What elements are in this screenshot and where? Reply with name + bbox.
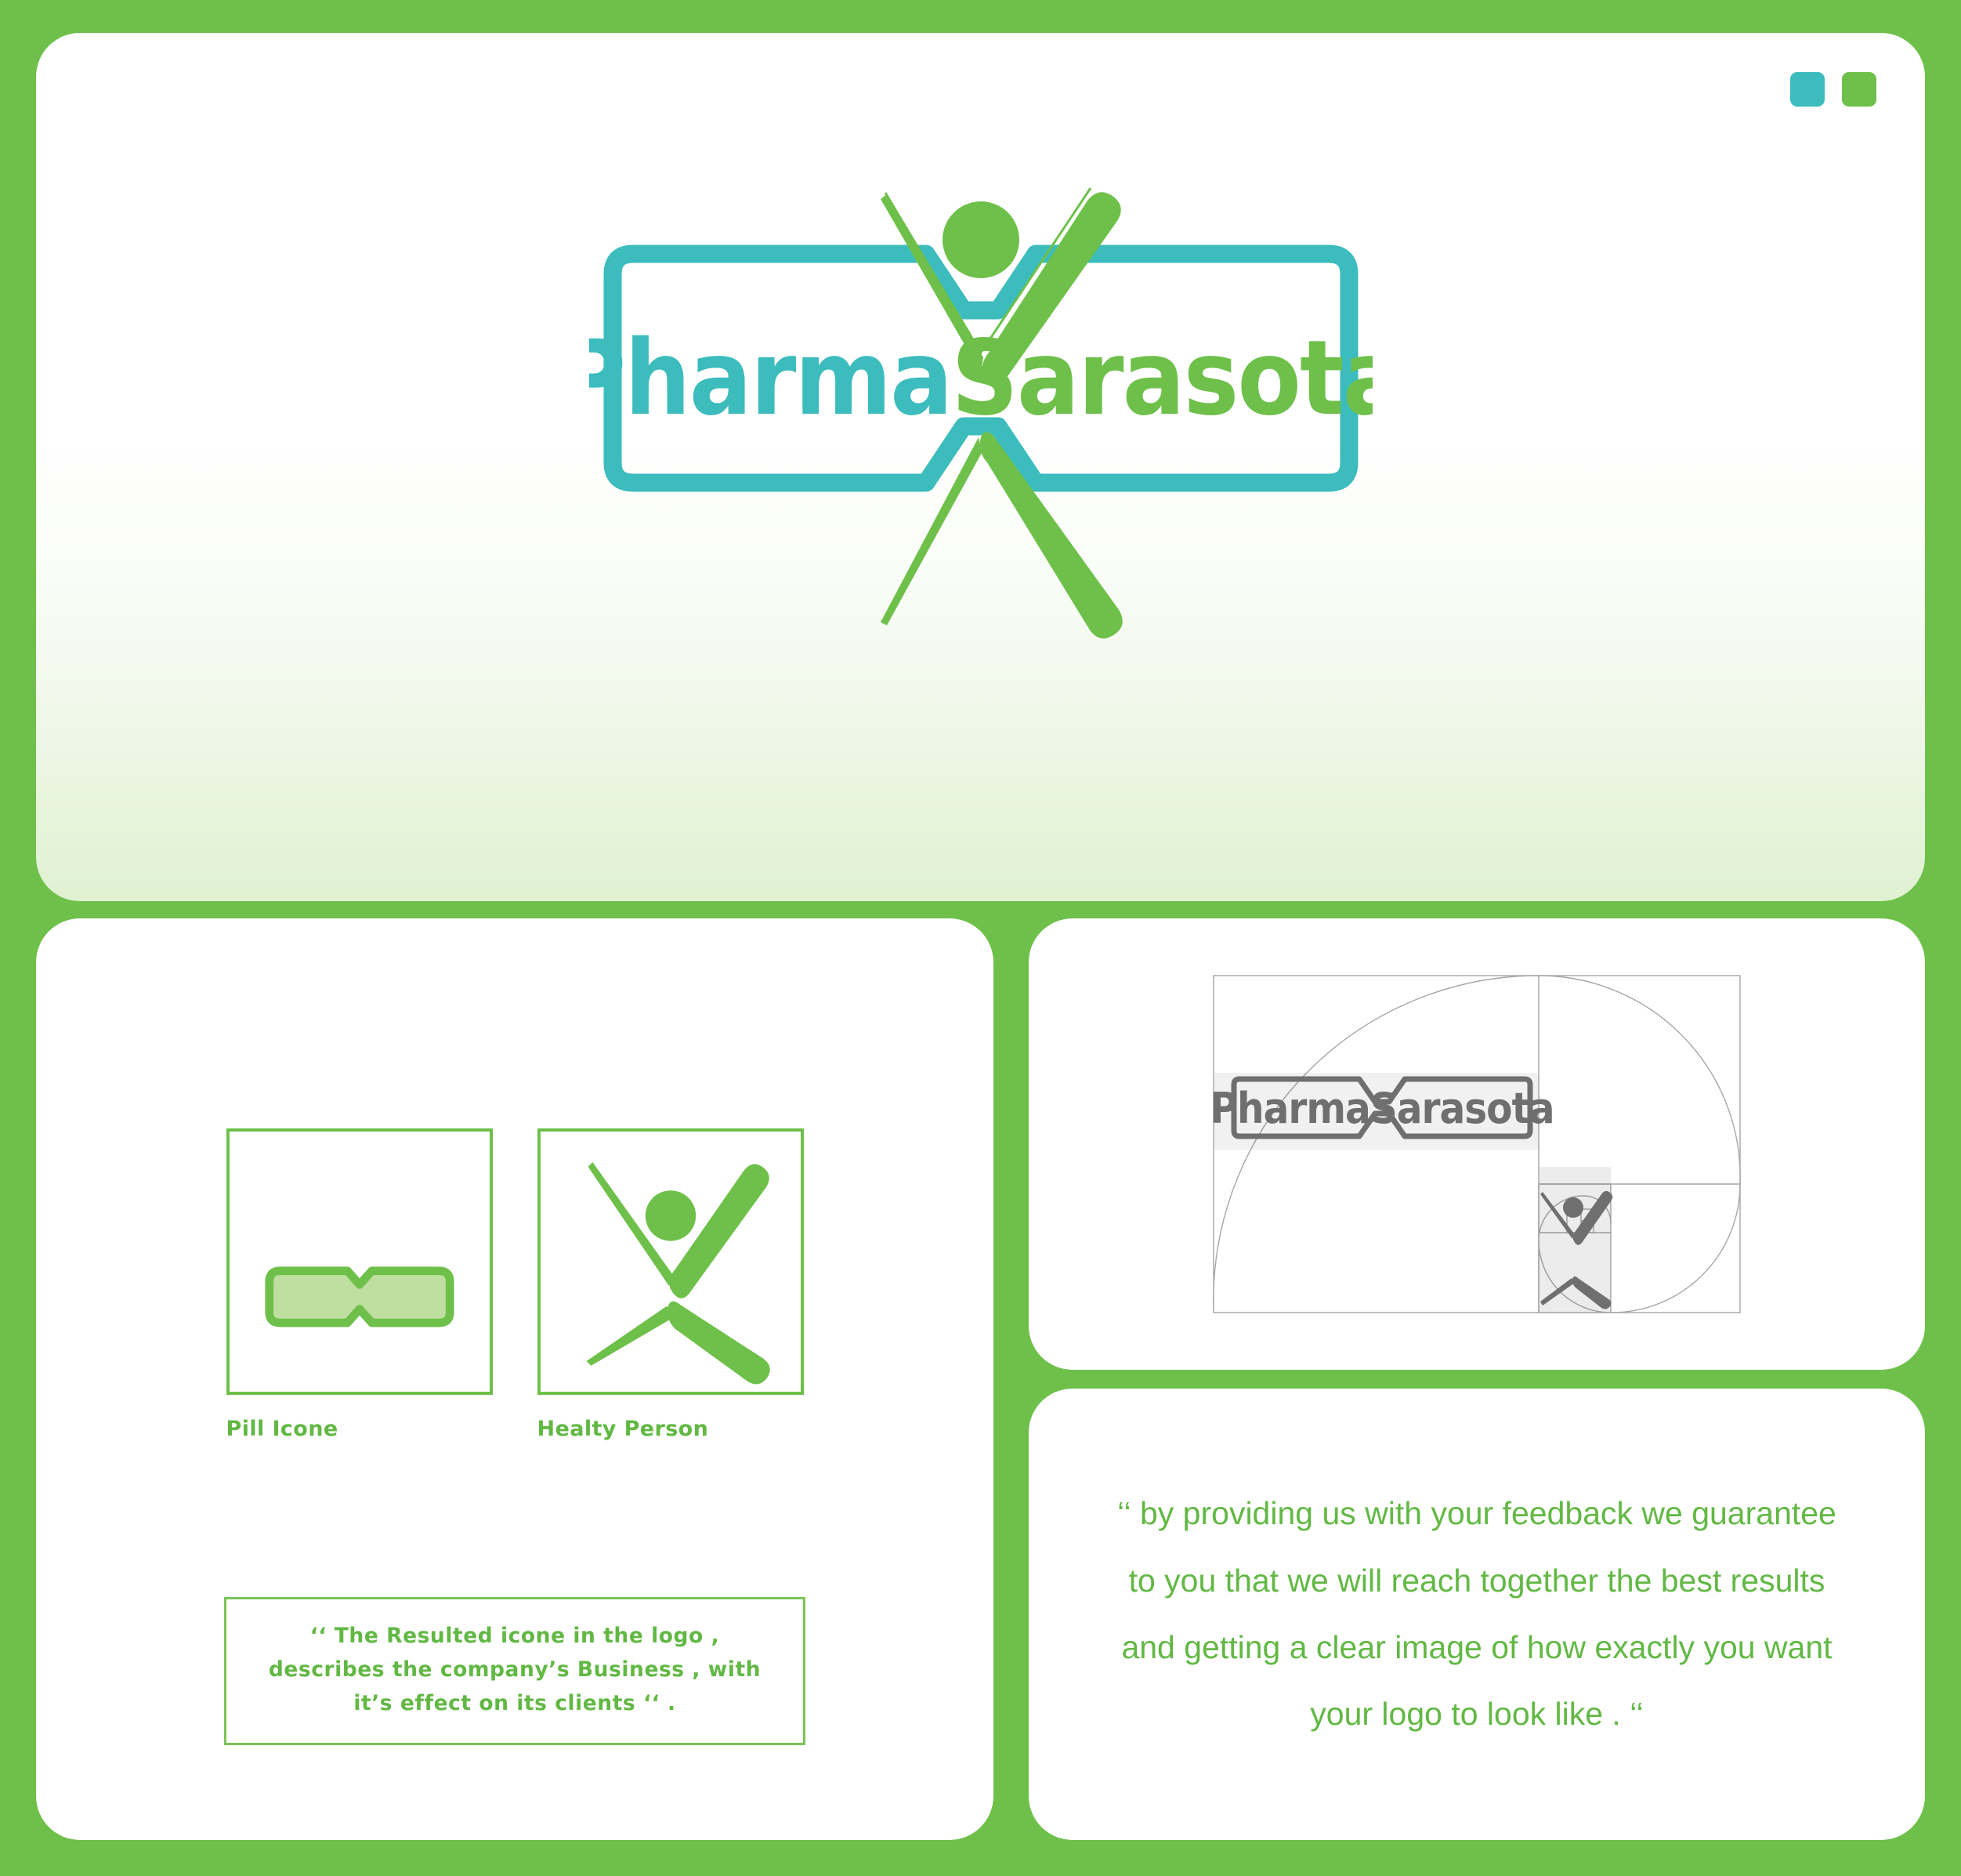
person-head bbox=[645, 1190, 695, 1240]
wordmark-pharma: Pharma bbox=[589, 318, 951, 439]
presentation-sheet: PharmaSarasota Pill Icone bbox=[0, 0, 1961, 1876]
person-right-leg bbox=[667, 1302, 769, 1385]
teal-swatch[interactable] bbox=[1790, 72, 1825, 107]
quote-line-1: ‘‘ by providing us with your feedback we… bbox=[1097, 1480, 1857, 1547]
person-icon-caption: Healty Person bbox=[537, 1417, 804, 1441]
person-icon-frame[interactable] bbox=[537, 1128, 804, 1395]
feedback-quote-text: ‘‘ by providing us with your feedback we… bbox=[1097, 1480, 1857, 1747]
icon-row: Pill Icone Healty Person bbox=[36, 1128, 993, 1441]
logo-hero-card: PharmaSarasota bbox=[36, 33, 1925, 901]
pill-icon-caption: Pill Icone bbox=[226, 1417, 493, 1441]
person-left-leg bbox=[586, 1306, 671, 1366]
icon-unit-person: Healty Person bbox=[537, 1128, 804, 1441]
primary-logo: PharmaSarasota bbox=[589, 187, 1373, 641]
svg-text:PharmaSarasota: PharmaSarasota bbox=[589, 318, 1373, 439]
quote-line-2: to you that we will reach together the b… bbox=[1097, 1548, 1857, 1614]
golden-ratio-diagram: PharmaSarasota bbox=[1212, 974, 1742, 1314]
grid-wordmark: PharmaSarasota bbox=[1212, 1084, 1554, 1133]
pill-icon bbox=[269, 1271, 449, 1323]
icon-unit-pill: Pill Icone bbox=[226, 1128, 493, 1441]
icon-breakdown-card: Pill Icone Healty Person bbox=[36, 918, 993, 1840]
logo-head bbox=[943, 201, 1019, 278]
brand-color-swatches bbox=[1790, 72, 1876, 107]
quote-line-4: your logo to look like . ‘‘ bbox=[1097, 1681, 1857, 1747]
golden-ratio-card: PharmaSarasota bbox=[1029, 918, 1925, 1370]
quote-line-3: and getting a clear image of how exactly… bbox=[1097, 1614, 1857, 1681]
feedback-quote-card: ‘‘ by providing us with your feedback we… bbox=[1029, 1389, 1925, 1840]
icon-description-text: ‘‘ The Resulted icone in the logo , desc… bbox=[250, 1620, 780, 1721]
pill-icon-frame[interactable] bbox=[226, 1128, 493, 1395]
logo-right-leg bbox=[979, 432, 1122, 639]
wordmark-sarasota: Sarasota bbox=[951, 318, 1373, 439]
green-swatch[interactable] bbox=[1842, 72, 1876, 107]
icon-description-box: ‘‘ The Resulted icone in the logo , desc… bbox=[224, 1597, 805, 1745]
